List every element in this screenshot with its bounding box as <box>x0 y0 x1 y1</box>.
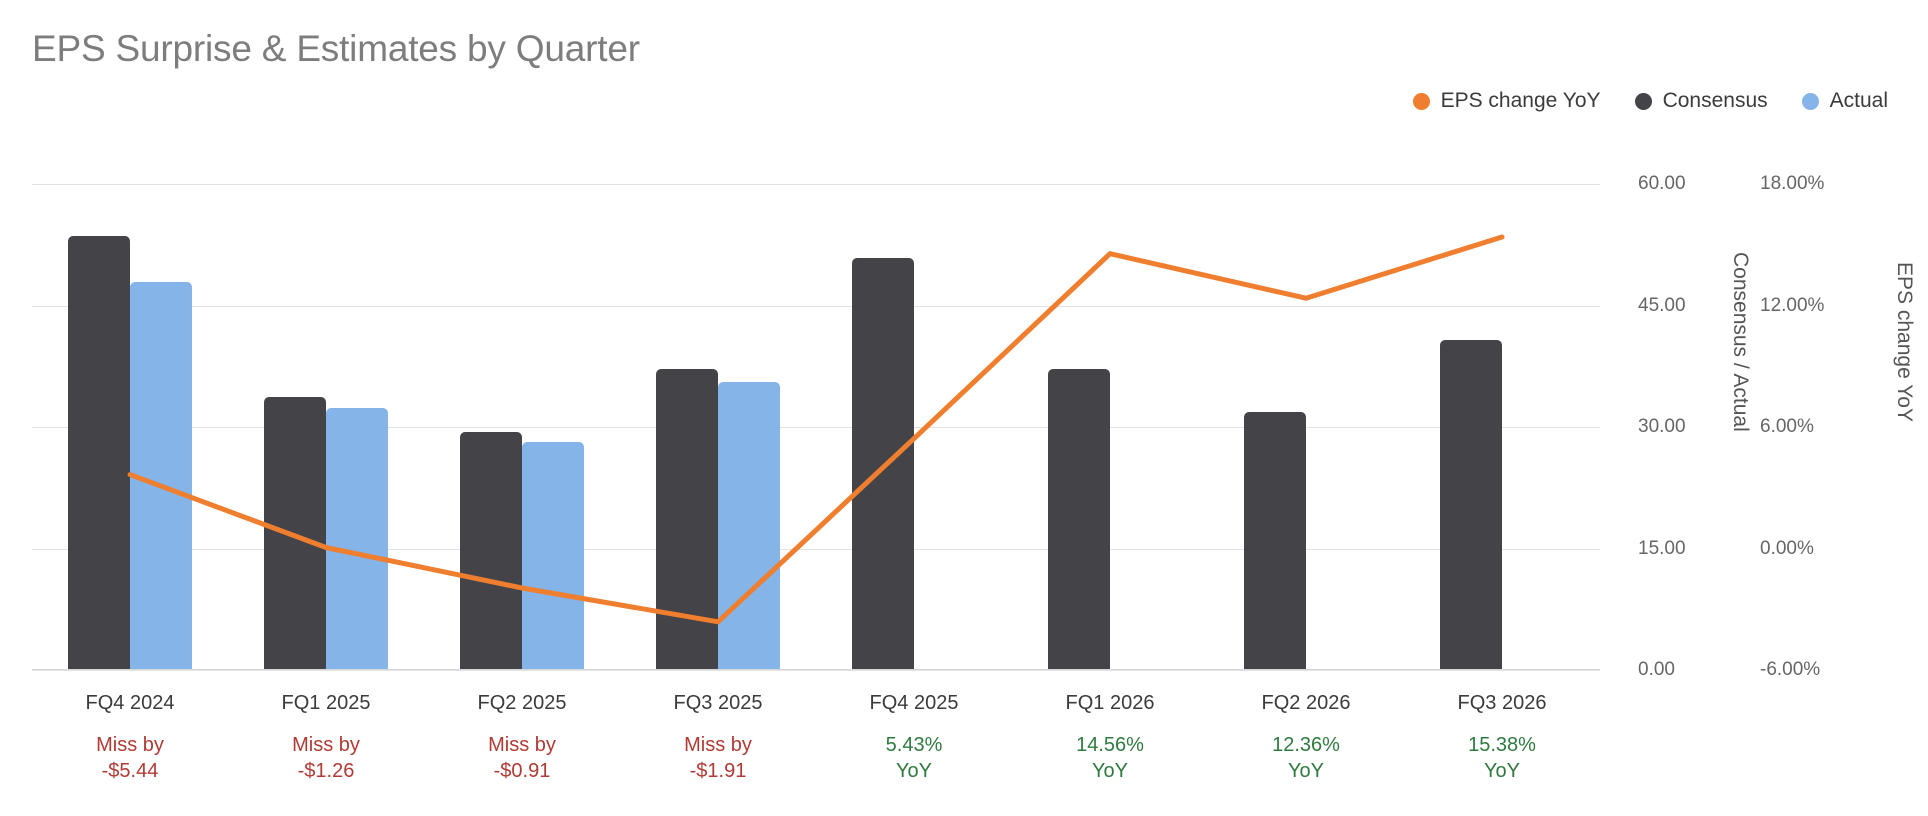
axis-tick-label: 0.00 <box>1638 659 1675 681</box>
consensus-bar[interactable] <box>68 236 130 670</box>
category-name: FQ3 2026 <box>1404 690 1600 716</box>
bar-group <box>32 184 228 670</box>
yoy-growth-note: 12.36% YoY <box>1208 732 1404 784</box>
surprise-miss-note: Miss by -$5.44 <box>32 732 228 784</box>
category-labels: FQ4 2024Miss by -$5.44FQ1 2025Miss by -$… <box>32 690 1600 784</box>
actual-bar[interactable] <box>718 382 780 670</box>
surprise-miss-note: Miss by -$0.91 <box>424 732 620 784</box>
axis-tick-label: 60.00 <box>1638 173 1686 195</box>
legend-item[interactable]: EPS change YoY <box>1413 89 1601 113</box>
category-name: FQ2 2026 <box>1208 690 1404 716</box>
gridline <box>32 670 1600 671</box>
surprise-miss-note: Miss by -$1.26 <box>228 732 424 784</box>
category-label-group: FQ2 2025Miss by -$0.91 <box>424 690 620 784</box>
bar-group <box>424 184 620 670</box>
legend-swatch-circle-icon <box>1635 93 1652 110</box>
axis-tick-label: 0.00% <box>1760 538 1814 560</box>
axis-tick-label: -6.00% <box>1760 659 1820 681</box>
consensus-bar[interactable] <box>264 397 326 670</box>
chart-legend: EPS change YoYConsensusActual <box>1413 89 1888 113</box>
legend-item[interactable]: Consensus <box>1635 89 1768 113</box>
legend-item[interactable]: Actual <box>1802 89 1888 113</box>
legend-item-label: EPS change YoY <box>1441 89 1601 113</box>
category-label-group: FQ2 202612.36% YoY <box>1208 690 1404 784</box>
legend-item-label: Consensus <box>1663 89 1768 113</box>
axis-tick-label: 45.00 <box>1638 295 1686 317</box>
bar-group <box>816 184 1012 670</box>
consensus-bar[interactable] <box>1244 412 1306 670</box>
chart-title: EPS Surprise & Estimates by Quarter <box>32 28 640 70</box>
category-name: FQ2 2025 <box>424 690 620 716</box>
consensus-bar[interactable] <box>656 369 718 670</box>
surprise-miss-note: Miss by -$1.91 <box>620 732 816 784</box>
axis-tick-label: 15.00 <box>1638 538 1686 560</box>
consensus-bar[interactable] <box>1440 340 1502 670</box>
axis-tick-label: 18.00% <box>1760 173 1824 195</box>
bar-group <box>620 184 816 670</box>
eps-surprise-chart: EPS Surprise & Estimates by Quarter EPS … <box>0 0 1928 816</box>
bar-group <box>1404 184 1600 670</box>
category-name: FQ1 2025 <box>228 690 424 716</box>
legend-swatch-circle-icon <box>1802 93 1819 110</box>
category-label-group: FQ4 20255.43% YoY <box>816 690 1012 784</box>
axis-tick-label: 12.00% <box>1760 295 1824 317</box>
category-name: FQ4 2025 <box>816 690 1012 716</box>
consensus-bar[interactable] <box>1048 369 1110 670</box>
category-label-group: FQ3 2025Miss by -$1.91 <box>620 690 816 784</box>
yoy-growth-note: 5.43% YoY <box>816 732 1012 784</box>
category-label-group: FQ3 202615.38% YoY <box>1404 690 1600 784</box>
consensus-bar[interactable] <box>460 432 522 670</box>
primary-axis-title: Consensus / Actual <box>1728 252 1752 432</box>
plot-area <box>32 184 1600 670</box>
actual-bar[interactable] <box>326 408 388 670</box>
axis-tick-label: 6.00% <box>1760 416 1814 438</box>
yoy-growth-note: 14.56% YoY <box>1012 732 1208 784</box>
bars-layer <box>32 184 1600 670</box>
category-label-group: FQ1 2025Miss by -$1.26 <box>228 690 424 784</box>
consensus-bar[interactable] <box>852 258 914 670</box>
legend-item-label: Actual <box>1830 89 1888 113</box>
actual-bar[interactable] <box>522 442 584 670</box>
bar-group <box>228 184 424 670</box>
legend-swatch-circle-icon <box>1413 93 1430 110</box>
category-name: FQ4 2024 <box>32 690 228 716</box>
category-label-group: FQ1 202614.56% YoY <box>1012 690 1208 784</box>
category-name: FQ1 2026 <box>1012 690 1208 716</box>
axis-baseline <box>32 669 1600 670</box>
bar-group <box>1012 184 1208 670</box>
category-label-group: FQ4 2024Miss by -$5.44 <box>32 690 228 784</box>
axis-tick-label: 30.00 <box>1638 416 1686 438</box>
secondary-axis-title: EPS change YoY <box>1892 262 1916 422</box>
actual-bar[interactable] <box>130 282 192 670</box>
bar-group <box>1208 184 1404 670</box>
category-name: FQ3 2025 <box>620 690 816 716</box>
yoy-growth-note: 15.38% YoY <box>1404 732 1600 784</box>
